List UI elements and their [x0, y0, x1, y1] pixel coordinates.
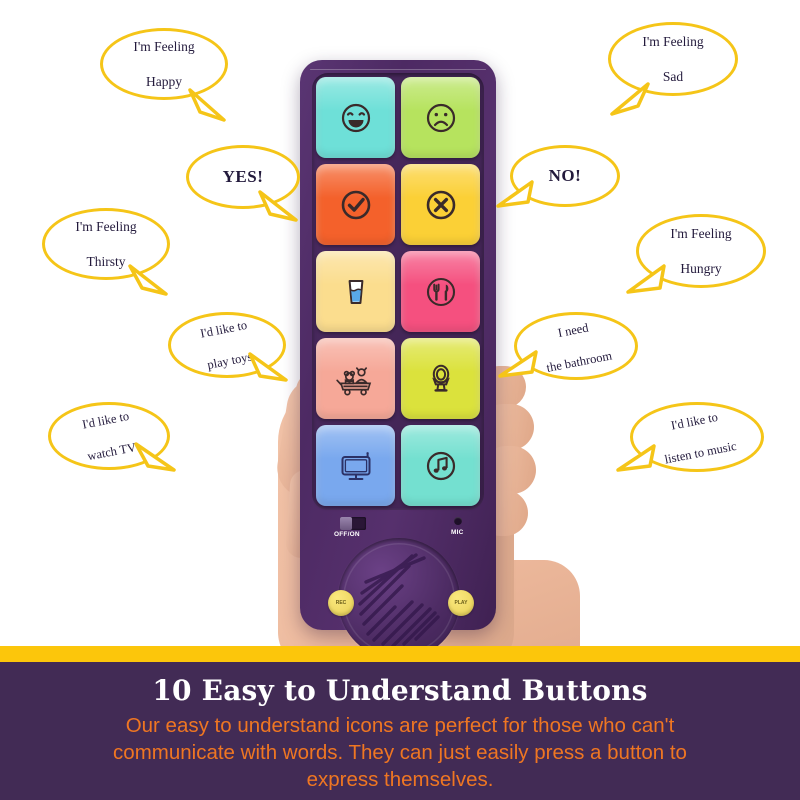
bubble-thirsty-tail	[126, 264, 170, 300]
bubble-no-tail	[496, 178, 536, 212]
speaker-grille	[338, 538, 460, 660]
mic-hole	[454, 517, 462, 525]
button-watch-tv[interactable]	[316, 425, 395, 506]
product-marketing-image: OFF/ON MIC	[0, 0, 800, 800]
bubble-happy-tail	[186, 86, 228, 124]
mic-label: MIC	[451, 529, 464, 536]
record-button[interactable]: REC	[328, 590, 354, 616]
speaker	[338, 538, 460, 660]
button-hungry[interactable]	[401, 251, 480, 332]
button-listen-music[interactable]	[401, 425, 480, 506]
banner-title: 10 Easy to Understand Buttons	[0, 674, 800, 707]
banner: 10 Easy to Understand Buttons Our easy t…	[0, 662, 800, 800]
button-sad[interactable]	[401, 77, 480, 158]
button-bathroom[interactable]	[401, 338, 480, 419]
button-yes[interactable]	[316, 164, 395, 245]
power-switch[interactable]	[340, 517, 366, 530]
banner-top-rule	[0, 646, 800, 662]
bubble-sad-tail	[608, 80, 652, 118]
button-play-toys[interactable]	[316, 338, 395, 419]
bubble-listen-music-tail	[616, 440, 658, 476]
power-switch-label: OFF/ON	[334, 531, 360, 538]
communication-device[interactable]: OFF/ON MIC	[300, 60, 496, 630]
bubble-bathroom-tail	[498, 346, 540, 382]
play-button[interactable]: PLAY	[448, 590, 474, 616]
bubble-play-toys-tail	[248, 352, 290, 386]
device-top-highlight	[310, 69, 486, 70]
bubble-hungry-tail	[626, 262, 670, 300]
bubble-watch-tv-tail	[134, 440, 178, 476]
button-happy[interactable]	[316, 77, 395, 158]
banner-body: Our easy to understand icons are perfect…	[100, 712, 700, 793]
bubble-yes-tail	[258, 190, 300, 226]
button-grid	[316, 77, 480, 506]
button-no[interactable]	[401, 164, 480, 245]
control-bar: OFF/ON MIC	[312, 515, 484, 539]
button-thirsty[interactable]	[316, 251, 395, 332]
